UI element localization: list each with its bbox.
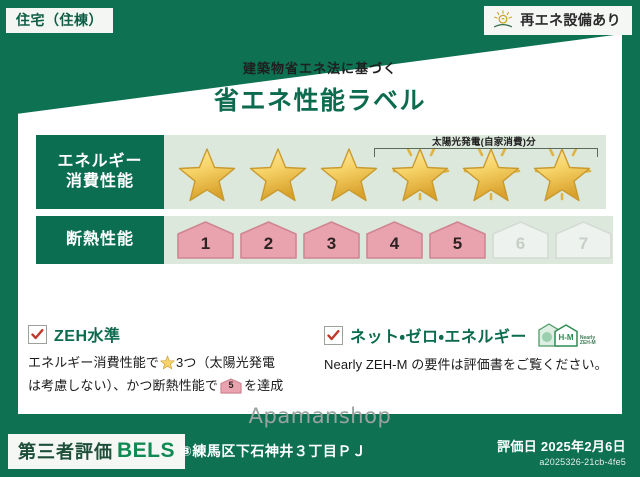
zeh-text-part1: エネルギー消費性能で	[28, 355, 159, 370]
zeh-m-logo-caption-line2: ZEH-M	[580, 340, 596, 346]
energy-performance-stars-area: 太陽光発電(自家消費)分	[164, 135, 606, 209]
insulation-level-6-value: 6	[516, 234, 525, 260]
mini-house-badge-value: 5	[220, 378, 242, 394]
zeh-standard-block: ZEH水準 エネルギー消費性能で3つ（太陽光発電は考慮しない）、かつ断熱性能で5…	[28, 322, 324, 396]
mini-house-badge: 5	[220, 378, 242, 394]
renewable-energy-badge: 再エネ設備あり	[484, 6, 632, 35]
net-zero-energy-text: Nearly ZEH-M の要件は評価書をご覧ください。	[324, 355, 612, 375]
label-main-title: 省エネ性能ラベル	[0, 81, 640, 117]
energy-label-line1: エネルギー	[57, 152, 142, 172]
document-id: a2025326-21cb-4fe5	[497, 457, 626, 467]
energy-performance-label: エネルギー 消費性能	[36, 135, 164, 209]
label-title-block: 建築物省エネ法に基づく 省エネ性能ラベル	[0, 58, 640, 117]
insulation-level-7-value: 7	[579, 234, 588, 260]
zeh-standard-title: ZEH水準	[54, 322, 121, 346]
net-zero-energy-title: ネット・ゼロ・エネルギー	[350, 323, 527, 347]
star-2	[245, 141, 313, 203]
insulation-level-2: 2	[239, 220, 298, 260]
insulation-level-1: 1	[176, 220, 235, 260]
insulation-level-7: 7	[554, 220, 613, 260]
check-icon	[28, 325, 47, 344]
energy-label-line2: 消費性能	[66, 172, 134, 192]
zeh-standard-text: エネルギー消費性能で3つ（太陽光発電は考慮しない）、かつ断熱性能で5を達成	[28, 353, 316, 396]
building-type-tag: 住宅（住棟）	[6, 8, 113, 33]
energy-performance-row: エネルギー 消費性能 太陽光発電(自家消費)分	[36, 135, 606, 209]
insulation-level-3-value: 3	[327, 234, 336, 260]
info-section: ZEH水準 エネルギー消費性能で3つ（太陽光発電は考慮しない）、かつ断熱性能で5…	[28, 322, 620, 396]
insulation-level-5: 5	[428, 220, 487, 260]
bels-prefix-label: 第三者評価	[18, 438, 113, 464]
sun-icon	[492, 10, 514, 30]
insulation-level-5-value: 5	[453, 234, 462, 260]
evaluation-date: 評価日 2025年2月6日	[497, 436, 626, 455]
zeh-text-part3: を達成	[244, 378, 283, 393]
zeh-m-logo-caption: Nearly ZEH-M	[580, 336, 596, 349]
insulation-level-1-value: 1	[201, 234, 210, 260]
zeh-text-part2: は考慮しない）、かつ断熱性能で	[28, 378, 218, 393]
insulation-level-3: 3	[302, 220, 361, 260]
insulation-scale-area: 1 2 3 4 5	[164, 216, 613, 264]
zeh-standard-header: ZEH水準	[28, 322, 316, 346]
zeh-text-star-count: 3つ（太陽光発電	[176, 355, 275, 370]
check-icon	[324, 326, 343, 345]
mini-star-icon	[160, 355, 175, 376]
net-zero-energy-header: ネット・ゼロ・エネルギー H-M Nearly ZEH-M	[324, 322, 612, 348]
watermark: Apamanshop	[0, 404, 640, 428]
insulation-level-2-value: 2	[264, 234, 273, 260]
bels-name-label: BELS	[117, 439, 175, 463]
renewable-energy-badge-label: 再エネ設備あり	[520, 10, 621, 30]
label-subtitle: 建築物省エネ法に基づく	[0, 58, 640, 77]
solar-range-bracket	[374, 148, 598, 157]
insulation-level-6: 6	[491, 220, 550, 260]
footer-meta: 評価日 2025年2月6日 a2025326-21cb-4fe5	[497, 436, 626, 467]
zeh-m-logo-icon: H-M Nearly ZEH-M	[538, 322, 596, 348]
ratings-section: エネルギー 消費性能 太陽光発電(自家消費)分	[36, 135, 606, 271]
insulation-level-group: 1 2 3 4 5	[164, 220, 613, 260]
insulation-level-4-value: 4	[390, 234, 399, 260]
star-1	[174, 141, 242, 203]
bels-badge: 第三者評価 BELS	[8, 434, 185, 469]
insulation-level-4: 4	[365, 220, 424, 260]
insulation-performance-row: 断熱性能 1 2 3	[36, 216, 606, 264]
net-zero-energy-block: ネット・ゼロ・エネルギー H-M Nearly ZEH-M Nearly ZEH…	[324, 322, 620, 396]
solar-generation-note: 太陽光発電(自家消費)分	[369, 134, 599, 148]
insulation-performance-label: 断熱性能	[36, 216, 164, 264]
energy-label-root: 住宅（住棟） 再エネ設備あり 建築物省エネ法に基づく 省エネ性能ラベル	[0, 0, 640, 477]
property-address: ③練馬区下石神井３丁目ＰＪ	[180, 441, 366, 461]
svg-text:H-M: H-M	[558, 333, 573, 342]
